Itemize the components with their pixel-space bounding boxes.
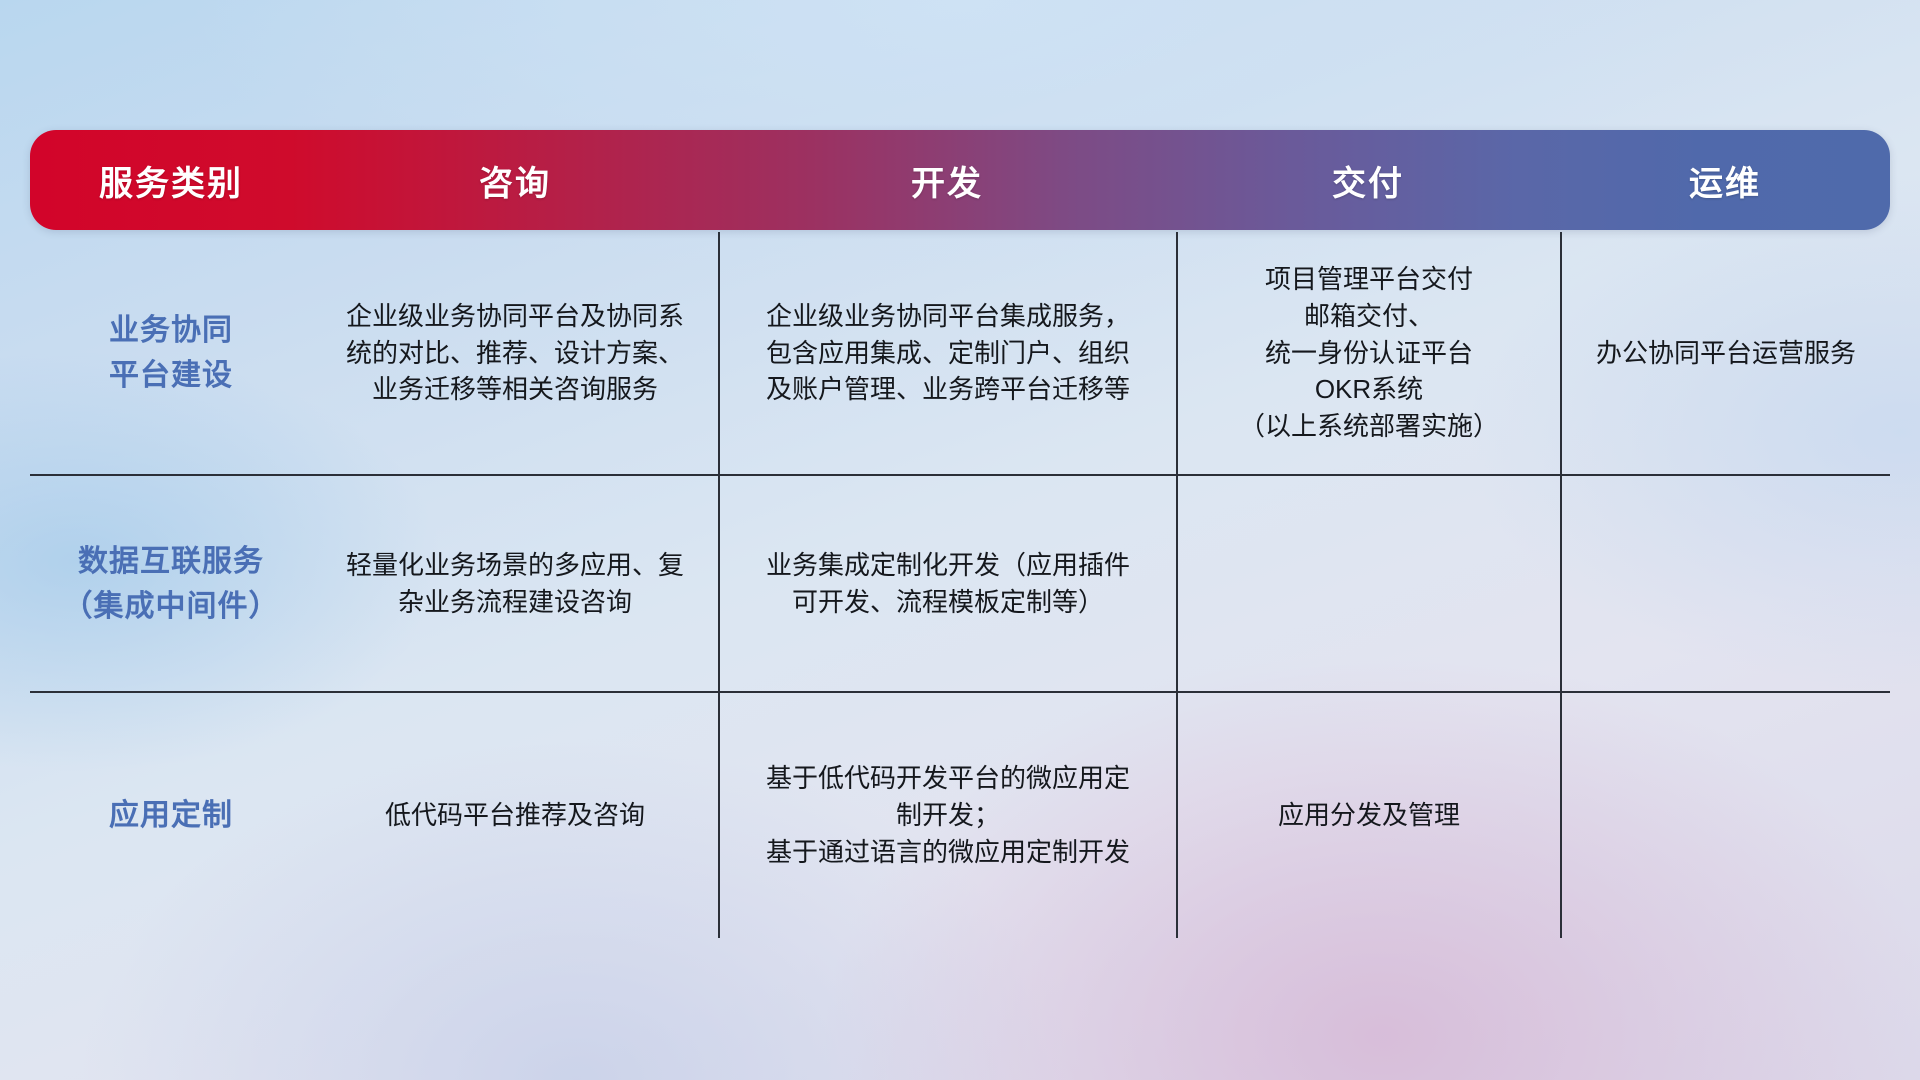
cell-consulting: 企业级业务协同平台及协同系 统的对比、推荐、设计方案、 业务迁移等相关咨询服务 bbox=[312, 232, 718, 474]
row-category-label: 应用定制 bbox=[30, 693, 312, 938]
table-row: 应用定制 低代码平台推荐及咨询 基于低代码开发平台的微应用定 制开发； 基于通过… bbox=[30, 691, 1890, 938]
cell-operations bbox=[1560, 693, 1890, 938]
column-header-development: 开发 bbox=[718, 130, 1176, 230]
table-body: 业务协同 平台建设 企业级业务协同平台及协同系 统的对比、推荐、设计方案、 业务… bbox=[30, 232, 1890, 938]
cell-consulting: 轻量化业务场景的多应用、复 杂业务流程建设咨询 bbox=[312, 476, 718, 691]
table-row: 业务协同 平台建设 企业级业务协同平台及协同系 统的对比、推荐、设计方案、 业务… bbox=[30, 232, 1890, 474]
cell-operations bbox=[1560, 476, 1890, 691]
cell-development: 基于低代码开发平台的微应用定 制开发； 基于通过语言的微应用定制开发 bbox=[718, 693, 1176, 938]
cell-delivery: 应用分发及管理 bbox=[1176, 693, 1560, 938]
table-row: 数据互联服务 （集成中间件） 轻量化业务场景的多应用、复 杂业务流程建设咨询 业… bbox=[30, 474, 1890, 691]
column-header-delivery: 交付 bbox=[1176, 130, 1560, 230]
cell-delivery: 项目管理平台交付 邮箱交付、 统一身份认证平台 OKR系统 （以上系统部署实施） bbox=[1176, 232, 1560, 474]
table-header-row: 服务类别 咨询 开发 交付 运维 bbox=[30, 130, 1890, 230]
service-matrix-table: 服务类别 咨询 开发 交付 运维 业务协同 平台建设 企业级业务协同平台及协同系… bbox=[30, 130, 1890, 938]
cell-operations: 办公协同平台运营服务 bbox=[1560, 232, 1890, 474]
column-header-category: 服务类别 bbox=[30, 130, 312, 230]
cell-development: 企业级业务协同平台集成服务， 包含应用集成、定制门户、组织 及账户管理、业务跨平… bbox=[718, 232, 1176, 474]
row-category-label: 业务协同 平台建设 bbox=[30, 232, 312, 474]
cell-consulting: 低代码平台推荐及咨询 bbox=[312, 693, 718, 938]
column-header-consulting: 咨询 bbox=[312, 130, 718, 230]
cell-development: 业务集成定制化开发（应用插件 可开发、流程模板定制等） bbox=[718, 476, 1176, 691]
row-category-label: 数据互联服务 （集成中间件） bbox=[30, 476, 312, 691]
column-header-operations: 运维 bbox=[1560, 130, 1890, 230]
cell-delivery bbox=[1176, 476, 1560, 691]
